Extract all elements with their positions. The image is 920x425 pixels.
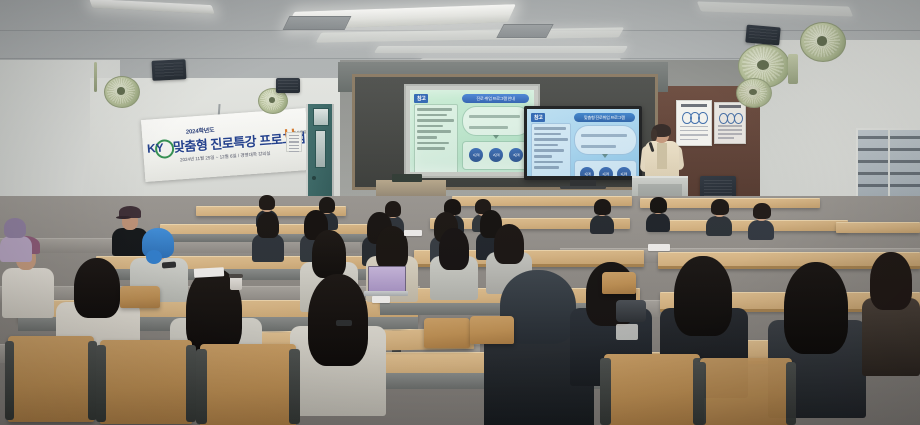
cap-icon: [119, 206, 141, 218]
lecture-chair[interactable]: [700, 358, 792, 425]
paper-handout: [404, 230, 422, 236]
slide-panel-bottom: 1단계 2단계 3단계: [462, 141, 531, 170]
wall-fan: [800, 22, 844, 60]
slide-left-column: [414, 104, 458, 172]
slide-header: 진로·취업 프로그램 안내: [462, 94, 529, 103]
door-knob[interactable]: [312, 176, 316, 180]
paper-handout: [194, 267, 224, 278]
tv-slide-tag: 참고: [531, 113, 545, 122]
audience-member: [0, 218, 32, 258]
wall-speaker: [276, 78, 300, 93]
tv-slide-circle: 3단계: [617, 167, 631, 176]
door-window: [315, 130, 326, 168]
tv-slide-header: 맞춤형 진로취업 프로그램: [574, 113, 634, 122]
jacket-text: [616, 324, 638, 340]
wall-fan: [104, 76, 138, 106]
tv-slide-arrow-icon: [602, 154, 608, 158]
slide-circle: 1단계: [469, 148, 483, 162]
lecture-chair[interactable]: [120, 286, 160, 308]
desk-row: [836, 222, 920, 233]
wall-notice-small: [286, 132, 302, 152]
bag: [616, 300, 646, 322]
slide-circle: 3단계: [509, 148, 523, 162]
ceiling-light-fixture: [89, 0, 215, 14]
lecture-hall-photo: KY 2024학년도 맞춤형 진로특강 프로그램 2024년 11월 25일 ~…: [0, 0, 920, 425]
slide-arrow-icon: [493, 135, 499, 139]
ceiling-light-fixture: [697, 1, 853, 16]
ky-logo: KY: [146, 138, 172, 162]
wall-fan-mount: [92, 62, 100, 92]
door-upper-window: [313, 108, 329, 126]
paper-handout: [372, 296, 390, 303]
tv-monitor-screen: 참고 맞춤형 진로취업 프로그램 1단계 2단계 3단계: [527, 109, 639, 176]
coffee-cup: [230, 276, 242, 290]
event-banner: KY 2024학년도 맞춤형 진로특강 프로그램 2024년 11월 25일 ~…: [141, 108, 310, 182]
audience-member: [430, 228, 478, 296]
tv-monitor-bezel: 참고 맞춤형 진로취업 프로그램 1단계 2단계 3단계: [524, 106, 642, 180]
laptop[interactable]: [368, 266, 406, 294]
presenter-inner-top: [657, 143, 667, 169]
audience-member: [252, 212, 284, 258]
tv-slide-panel-bottom: 1단계 2단계 3단계: [574, 160, 636, 176]
ky-logo-text: KY: [147, 141, 165, 156]
wall-speaker: [151, 59, 186, 81]
wall-poster-right: [714, 102, 746, 144]
tv-slide-panel-top: [574, 125, 636, 155]
presenter-hair-side: [651, 129, 657, 141]
audience-member: [590, 200, 614, 232]
slide-tag: 참고: [414, 94, 428, 103]
lecture-chair[interactable]: [100, 340, 192, 424]
phone[interactable]: [162, 262, 176, 269]
lecture-chair[interactable]: [470, 316, 514, 344]
tv-stand-base: [560, 186, 606, 189]
tv-slide-circle: 1단계: [580, 167, 594, 176]
lecture-chair[interactable]: [8, 336, 94, 422]
projection-screen-frame: 참고 진로·취업 프로그램 안내 1단계 2단계 3단계: [404, 84, 540, 178]
phone[interactable]: [336, 320, 352, 326]
lecture-chair[interactable]: [604, 354, 700, 425]
slide-panel-top: [462, 106, 531, 136]
classroom-door[interactable]: [306, 104, 334, 200]
hair-bun: [146, 250, 162, 264]
lecture-chair[interactable]: [602, 272, 636, 294]
audience-member: [748, 204, 774, 238]
paper-handout: [648, 244, 670, 251]
wall-speaker: [745, 25, 780, 46]
slide-circle: 2단계: [489, 148, 503, 162]
ceiling-light-fixture: [374, 46, 628, 53]
audience-member: [646, 198, 670, 230]
lecture-chair[interactable]: [200, 344, 296, 425]
projection-screen: 참고 진로·취업 프로그램 안내 1단계 2단계 3단계: [410, 90, 534, 172]
audience-member: [862, 252, 920, 372]
ceiling-vent: [283, 16, 352, 30]
tv-slide-left-column: [531, 123, 571, 176]
wall-fan: [736, 78, 770, 106]
tv-slide-circle: 2단계: [599, 167, 613, 176]
audience-member: [706, 200, 732, 234]
ceiling-vent: [496, 24, 553, 38]
front-equipment-box: [392, 174, 422, 182]
lecture-chair[interactable]: [424, 318, 470, 348]
